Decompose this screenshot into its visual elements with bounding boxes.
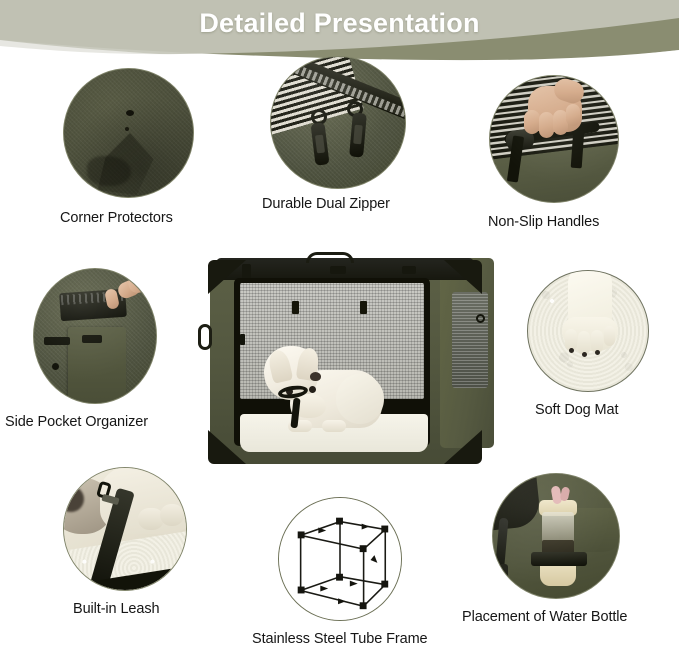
caption-dual-zipper: Durable Dual Zipper — [262, 196, 390, 212]
caption-side-pocket: Side Pocket Organizer — [5, 414, 148, 430]
leash-strap-icon — [63, 467, 187, 591]
paw-on-fleece-icon — [527, 270, 649, 392]
water-bottle-icon — [492, 473, 620, 599]
feature-water-bottle: Placement of Water Bottle — [492, 473, 620, 599]
caption-water-bottle: Placement of Water Bottle — [462, 609, 627, 625]
feature-side-pocket: Side Pocket Organizer — [33, 268, 157, 404]
wireframe-box-icon — [278, 497, 402, 621]
zipper-icon — [270, 56, 406, 189]
feature-soft-dog-mat: Soft Dog Mat — [527, 270, 649, 392]
dog-in-crate — [258, 320, 382, 432]
caption-soft-dog-mat: Soft Dog Mat — [535, 402, 618, 418]
feature-corner-protectors: Corner Protectors — [63, 68, 194, 198]
page-title: Detailed Presentation — [0, 8, 679, 39]
fabric-corner-icon — [63, 68, 194, 198]
pocket-icon — [33, 268, 157, 404]
hand-handle-icon — [489, 75, 619, 203]
feature-dual-zipper: Durable Dual Zipper — [270, 56, 406, 189]
caption-built-in-leash: Built-in Leash — [73, 601, 159, 617]
caption-corner-protectors: Corner Protectors — [60, 210, 173, 226]
feature-built-in-leash: Built-in Leash — [63, 467, 187, 591]
feature-steel-frame: Stainless Steel Tube Frame — [278, 497, 402, 621]
product-image-dog-crate — [196, 252, 494, 470]
feature-non-slip-handles: Non-Slip Handles — [489, 75, 619, 203]
caption-non-slip-handles: Non-Slip Handles — [488, 214, 599, 230]
caption-steel-frame: Stainless Steel Tube Frame — [252, 631, 428, 647]
